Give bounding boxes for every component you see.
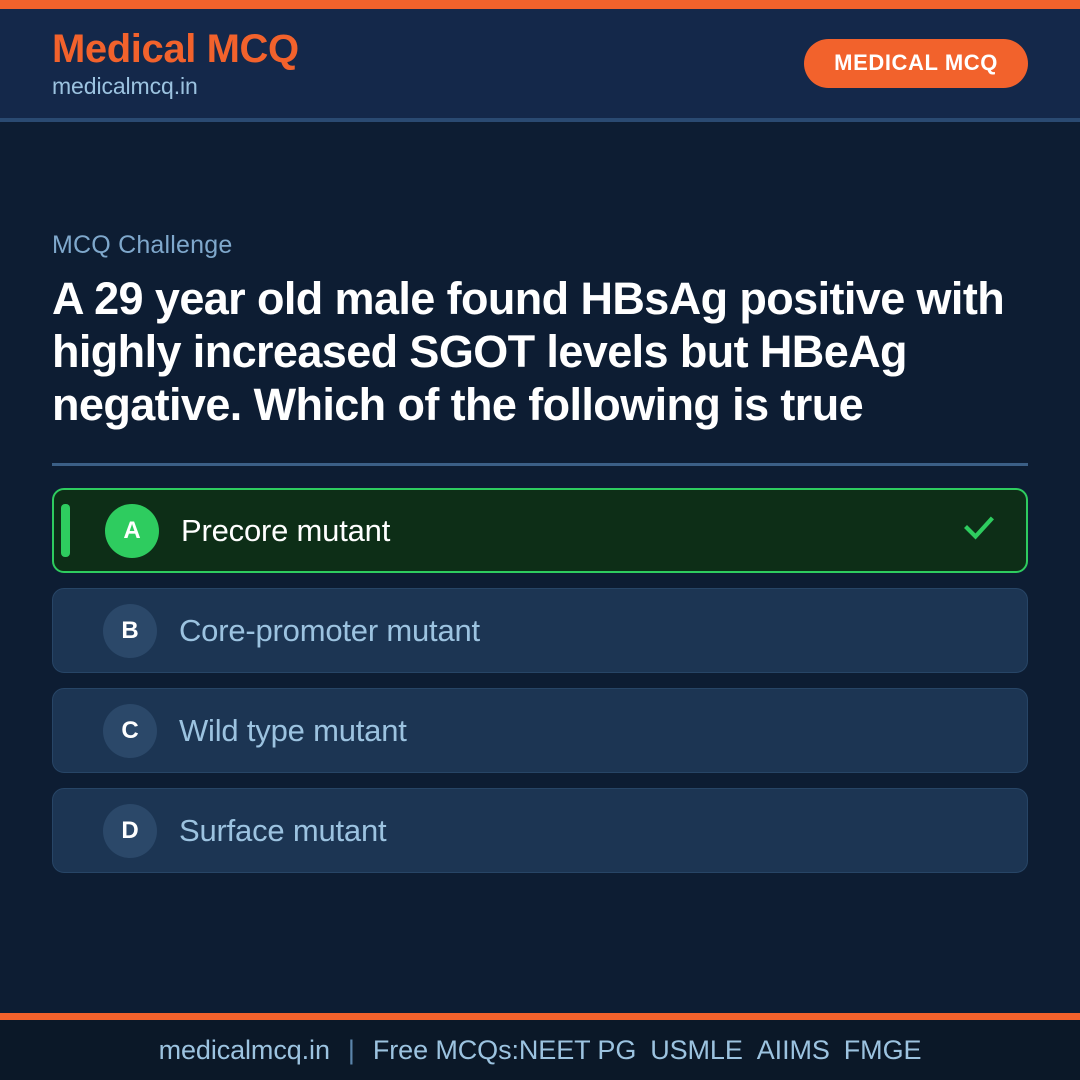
- footer-accent-bar: [0, 1013, 1080, 1020]
- option-letter-badge-d: D: [103, 804, 157, 858]
- footer-exam-neet-pg[interactable]: NEET PG: [519, 1037, 636, 1064]
- footer-separator: |: [348, 1037, 355, 1064]
- main-content: MCQ Challenge A 29 year old male found H…: [0, 122, 1080, 1013]
- options-list: A Precore mutant B Core-promoter mutant …: [52, 488, 1028, 873]
- brand-title: Medical MCQ: [52, 28, 299, 71]
- brand-block: Medical MCQ medicalmcq.in: [52, 28, 299, 100]
- page-footer: medicalmcq.in | Free MCQs: NEET PG USMLE…: [0, 1020, 1080, 1080]
- option-row-c[interactable]: C Wild type mutant: [52, 688, 1028, 773]
- brand-domain: medicalmcq.in: [52, 73, 299, 99]
- section-divider: [52, 463, 1028, 466]
- option-text-c: Wild type mutant: [179, 712, 1027, 749]
- footer-exam-aiims[interactable]: AIIMS: [757, 1037, 830, 1064]
- eyebrow-label: MCQ Challenge: [52, 230, 1028, 260]
- footer-exam-list: NEET PG USMLE AIIMS FMGE: [519, 1037, 922, 1064]
- option-row-d[interactable]: D Surface mutant: [52, 788, 1028, 873]
- option-letter-badge-c: C: [103, 704, 157, 758]
- mcq-card: Medical MCQ medicalmcq.in MEDICAL MCQ MC…: [0, 0, 1080, 1080]
- option-row-a[interactable]: A Precore mutant: [52, 488, 1028, 573]
- page-header: Medical MCQ medicalmcq.in MEDICAL MCQ: [0, 9, 1080, 122]
- footer-exam-fmge[interactable]: FMGE: [844, 1037, 922, 1064]
- option-row-b[interactable]: B Core-promoter mutant: [52, 588, 1028, 673]
- option-text-b: Core-promoter mutant: [179, 612, 1027, 649]
- question-text: A 29 year old male found HBsAg positive …: [52, 272, 1028, 431]
- footer-exam-usmle[interactable]: USMLE: [650, 1037, 743, 1064]
- check-icon: [962, 511, 996, 550]
- option-text-a: Precore mutant: [181, 512, 962, 549]
- option-letter-badge-a: A: [105, 504, 159, 558]
- footer-site[interactable]: medicalmcq.in: [159, 1037, 330, 1064]
- footer-prefix: Free MCQs:: [373, 1037, 519, 1064]
- option-letter-badge-b: B: [103, 604, 157, 658]
- header-badge[interactable]: MEDICAL MCQ: [804, 39, 1028, 88]
- correct-accent-bar: [61, 504, 70, 557]
- top-accent-bar: [0, 0, 1080, 9]
- option-text-d: Surface mutant: [179, 812, 1027, 849]
